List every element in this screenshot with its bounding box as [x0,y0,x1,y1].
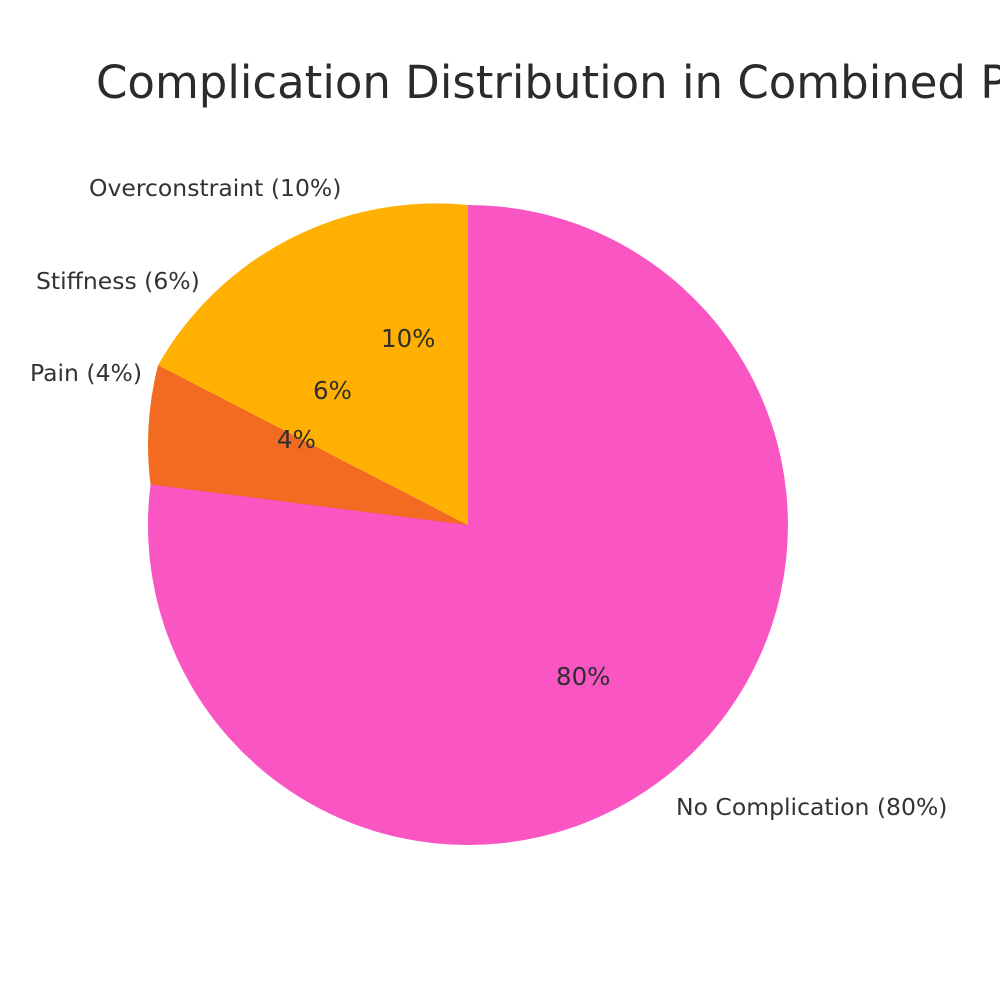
pie-label-stiffness: Stiffness (6%) [36,270,200,294]
pie-label-no-complication: No Complication (80%) [676,796,947,820]
pie-svg [0,0,1000,1000]
pie-label-pain: Pain (4%) [30,362,142,386]
pie-pct-overconstraint: 10% [381,327,435,352]
pie-pct-no-complication: 80% [556,665,610,690]
pie-label-overconstraint: Overconstraint (10%) [89,177,341,201]
pie-pct-stiffness: 6% [313,379,352,404]
pie-chart-figure: Complication Distribution in Combined Pr… [0,0,1000,1000]
pie-pct-pain: 4% [277,428,316,453]
